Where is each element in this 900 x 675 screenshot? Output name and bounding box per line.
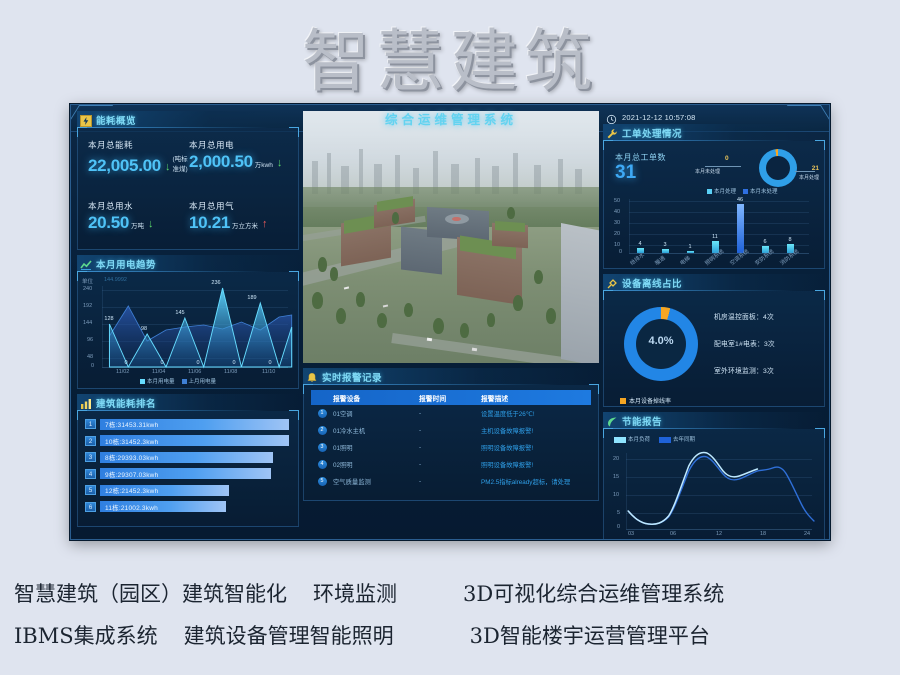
kpi-row-1: 本月总能耗 22,005.00 ↓ (吨标准煤) 本月总用电 2,000.50 [88,139,290,174]
alarm-bell-icon [306,371,318,383]
cell-desc: 主机设备故障报警! [481,426,591,435]
work-order-bar-chart: 50 40 30 20 10 0 4 3 1 11 [609,195,819,269]
wrench-icon [606,127,618,139]
kpi-unit: 万立方米 [232,220,258,231]
cell-device: 01照明 [333,443,419,452]
cell-desc: PM2.5指标already超标，请处理 [481,477,591,486]
energy-saving-chart: 本月负荷 去年同期 20 15 10 5 0 [608,433,820,540]
panel-title: 节能报告 [622,414,662,428]
right-column: 2021-12-12 10:57:08 工单处理情况 本月总工单数 31 [603,111,825,540]
panel-header: 实时报警记录 [303,368,599,385]
list-item: 室外环境监测：3次 [714,365,818,375]
electricity-trend-chart: 单位 144.9992 240 192 144 96 48 [78,272,298,388]
system-title: 综合运维管理系统 [71,109,830,128]
footer-item: 环境监测 [313,578,397,608]
cell-device: 01空调 [333,409,419,418]
table-row[interactable]: 3 01照明 - 照明设备故障报警! [311,439,591,456]
panel-offline-ratio: 设备离线占比 4.0% 本月设备掉线率 机房温控面板：4次 配电室1#电表：3次 [603,274,825,407]
middle-column: 实时报警记录 报警设备 报警时间 报警描述 1 01空调 - 设置温度低于26℃… [303,111,599,506]
page-root: 智慧建筑 综合运维管理系统 能耗概览 本月总能耗 [0,0,900,675]
footer-item: 3D智能楼宇运营管理平台 [470,620,710,650]
donut-unprocessed-label: 本月未处理 [695,168,720,175]
cell-time: - [419,410,481,417]
kpi-total-water: 本月总用水 20.50 万吨 ↓ [88,200,189,231]
offline-percent: 4.0% [624,335,698,347]
rank-index: 6 [85,502,96,512]
rank-index: 4 [85,469,96,479]
donut-processed-label: 本月处理 [799,174,819,181]
table-row[interactable]: 1 01空调 - 设置温度低于26℃! [311,405,591,422]
row-index: 1 [318,409,327,418]
cell-device: 02照明 [333,460,419,469]
donut-unprocessed-value: 0 [725,155,729,162]
kpi-label: 本月总用电 [189,139,290,151]
work-order-total-value: 31 [615,163,689,184]
panel-title: 设备离线占比 [622,276,682,290]
campus-3d-view[interactable] [303,111,599,363]
list-item[interactable]: 3 8栋:29393.03kwh [85,451,289,463]
cell-device: 空气质量监测 [333,477,419,486]
bar [737,204,744,253]
row-index: 4 [318,460,327,469]
electricity-trend-body: 单位 144.9992 240 192 144 96 48 [77,272,299,389]
xtick: 11/10 [262,369,275,375]
trend-down-icon: ↓ [277,158,283,170]
energy-saving-svg [608,433,820,540]
trend-down-icon: ↓ [148,219,154,231]
legend-item: 上月用电量 [182,377,217,385]
kpi-label: 本月总用水 [88,200,189,212]
work-order-body: 本月总工单数 31 本月未处理 0 21 本月处理 本月 [603,141,825,269]
leaf-icon [606,415,618,427]
bar [662,249,669,253]
list-item[interactable]: 6 11栋:21002.3kwh [85,501,289,513]
panel-title: 建筑能耗排名 [96,396,156,410]
plug-icon [606,277,618,289]
chart-legend: 本月用电量 上月用电量 [140,377,216,385]
footer-item: 建筑设备管理智能照明 [184,620,394,650]
xtick: 11/08 [224,369,237,375]
rank-label: 11栋:21002.3kwh [100,502,158,512]
list-item: 配电室1#电表：3次 [714,338,818,348]
list-item[interactable]: 5 12栋:21452.3kwh [85,484,289,496]
offline-ratio-body: 4.0% 本月设备掉线率 机房温控面板：4次 配电室1#电表：3次 室外环境监测… [603,291,825,407]
kpi-row-2: 本月总用水 20.50 万吨 ↓ 本月总用气 10.21 万立方米 [88,200,290,231]
table-row[interactable]: 5 空气质量监测 - PM2.5指标already超标，请处理 [311,473,591,490]
legend-item: 本月未处理 [743,187,778,195]
donut-legend: 本月处理 本月未处理 [707,187,778,195]
panel-header: 本月用电趋势 [77,255,299,272]
panel-header: 设备离线占比 [603,274,825,291]
rank-index: 1 [85,419,96,429]
alarm-table: 报警设备 报警时间 报警描述 1 01空调 - 设置温度低于26℃! 2 01冷… [303,385,599,501]
kpi-label: 本月总能耗 [88,139,189,151]
cell-time: - [419,427,481,434]
panel-title: 本月用电趋势 [96,257,156,271]
footer-item: 智慧建筑（园区）建筑智能化 [14,578,287,608]
kpi-total-gas: 本月总用气 10.21 万立方米 ↑ [189,200,290,231]
offline-donut-chart: 4.0% 本月设备掉线率 [610,297,714,406]
list-item[interactable]: 4 9栋:29307.03kwh [85,468,289,480]
bar [687,251,694,253]
energy-kpi-body: 本月总能耗 22,005.00 ↓ (吨标准煤) 本月总用电 2,000.50 [77,128,299,250]
rank-index: 5 [85,485,96,495]
dashboard-window: 综合运维管理系统 能耗概览 本月总能耗 22,005.00 [70,104,830,540]
cell-desc: 照明设备故障报警! [481,460,591,469]
trend-chart-icon [80,258,92,270]
list-item[interactable]: 1 7栋:31453.31kwh [85,418,289,430]
kpi-value: 20.50 [88,214,129,231]
offline-legend: 本月设备掉线率 [620,396,671,405]
trend-down-icon: ↓ [165,162,171,174]
kpi-unit: 万吨 [131,220,144,231]
kpi-total-electricity: 本月总用电 2,000.50 万kwh ↓ [189,139,290,174]
bar-chart-icon [80,397,92,409]
rank-index: 2 [85,436,96,446]
kpi-unit: 万kwh [255,159,273,170]
col-device: 报警设备 [333,393,419,403]
kpi-unit: (吨标准煤) [172,153,189,174]
col-desc: 报警描述 [481,393,591,403]
panel-title: 实时报警记录 [322,370,382,384]
energy-report-body: 本月负荷 去年同期 20 15 10 5 0 [603,429,825,540]
rank-label: 12栋:21452.3kwh [100,485,158,495]
kpi-value: 2,000.50 [189,153,253,170]
rank-label: 8栋:29393.03kwh [100,452,158,462]
tower-building [561,223,599,363]
panel-energy-report: 节能报告 本月负荷 去年同期 20 [603,412,825,540]
kpi-label: 本月总用气 [189,200,290,212]
cell-desc: 设置温度低于26℃! [481,409,591,418]
row-index: 5 [318,477,327,486]
footer: 智慧建筑（园区）建筑智能化 环境监测 3D可视化综合运维管理系统 IBMS集成系… [0,578,900,650]
cell-time: - [419,461,481,468]
panel-work-order: 工单处理情况 本月总工单数 31 本月未处理 0 [603,124,825,269]
rank-label: 10栋:31452.3kwh [100,436,158,446]
cell-device: 01冷水主机 [333,426,419,435]
xtick: 11/04 [152,369,165,375]
page-title: 智慧建筑 [0,6,900,105]
rank-label: 7栋:31453.31kwh [100,419,158,429]
legend-item: 本月处理 [707,187,736,195]
work-order-donut-chart: 本月未处理 0 21 本月处理 本月处理 本月未处理 [689,145,819,193]
footer-item: 3D可视化综合运维管理系统 [463,578,724,608]
table-row[interactable]: 4 02照明 - 照明设备故障报警! [311,456,591,473]
cell-time: - [419,444,481,451]
panel-header: 建筑能耗排名 [77,394,299,411]
building-rank-body: 1 7栋:31453.31kwh 2 10栋:31452.3kwh 3 8栋:2… [77,411,299,527]
kpi-value: 22,005.00 [88,157,161,174]
kpi-total-energy: 本月总能耗 22,005.00 ↓ (吨标准煤) [88,139,189,174]
donut-processed-value: 21 [812,165,819,172]
xtick: 11/06 [188,369,201,375]
table-header-row: 报警设备 报警时间 报警描述 [311,390,591,405]
row-index: 2 [318,426,327,435]
list-item: 机房温控面板：4次 [714,311,818,321]
donut-ring [759,149,797,187]
panel-electricity-trend: 本月用电趋势 单位 144.9992 240 192 [77,255,299,389]
panel-alarm-records: 实时报警记录 报警设备 报警时间 报警描述 1 01空调 - 设置温度低于26℃… [303,368,599,501]
panel-building-rank: 建筑能耗排名 1 7栋:31453.31kwh 2 10栋:31452.3kwh… [77,394,299,527]
trend-up-icon: ↑ [262,219,268,231]
panel-energy-overview: 能耗概览 本月总能耗 22,005.00 ↓ (吨标准煤) [77,111,299,250]
offline-item-list: 机房温控面板：4次 配电室1#电表：3次 室外环境监测：3次 [714,297,818,406]
cell-desc: 照明设备故障报警! [481,443,591,452]
table-row[interactable]: 2 01冷水主机 - 主机设备故障报警! [311,422,591,439]
xtick: 11/02 [116,369,129,375]
col-time: 报警时间 [419,393,481,403]
row-index: 3 [318,443,327,452]
rank-label: 9栋:29307.03kwh [100,469,158,479]
panel-header: 节能报告 [603,412,825,429]
footer-item: IBMS集成系统 [14,620,158,650]
kpi-value: 10.21 [189,214,230,231]
cell-time: - [419,478,481,485]
left-column: 能耗概览 本月总能耗 22,005.00 ↓ (吨标准煤) [77,111,299,532]
rank-index: 3 [85,452,96,462]
legend-item: 本月用电量 [140,377,175,385]
legend-label: 本月设备掉线率 [629,396,671,405]
list-item[interactable]: 2 10栋:31452.3kwh [85,435,289,447]
